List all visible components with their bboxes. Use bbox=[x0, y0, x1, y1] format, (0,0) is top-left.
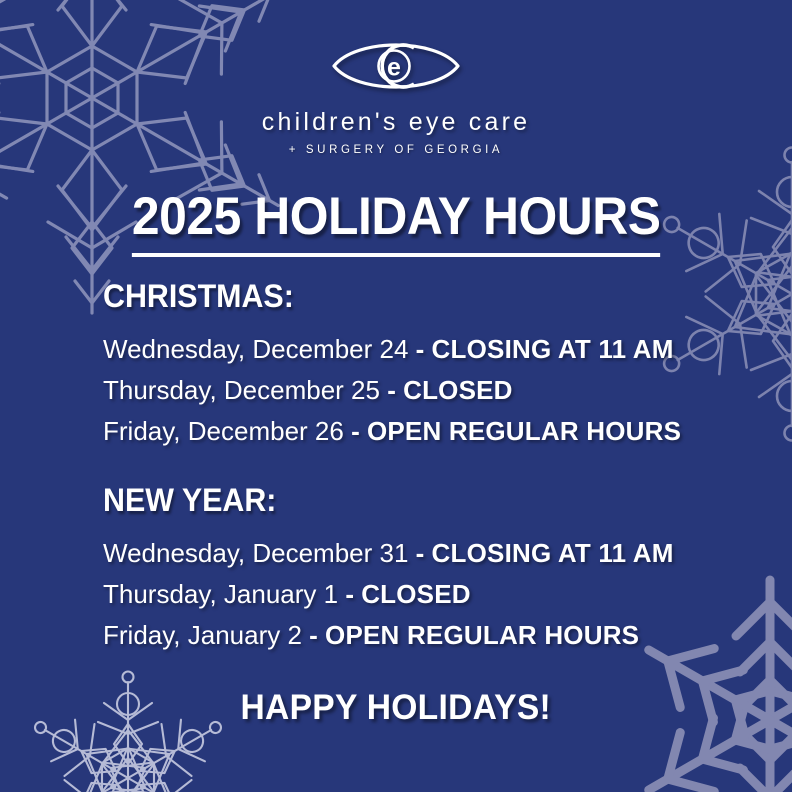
section-new-year: NEW YEAR: Wednesday, December 31 - CLOSI… bbox=[103, 482, 743, 656]
hours-dash: - bbox=[344, 416, 367, 446]
hours-dash: - bbox=[380, 375, 403, 405]
hours-status: CLOSING AT 11 AM bbox=[432, 538, 674, 568]
holiday-hours-poster: e children's eye care + SURGERY OF GEORG… bbox=[0, 0, 792, 792]
hours-line: Wednesday, December 31 - CLOSING AT 11 A… bbox=[103, 533, 743, 574]
hours-dash: - bbox=[408, 538, 431, 568]
hours-status: OPEN REGULAR HOURS bbox=[325, 620, 639, 650]
hours-line: Thursday, January 1 - CLOSED bbox=[103, 574, 743, 615]
logo-tagline: + SURGERY OF GEORGIA bbox=[0, 144, 792, 156]
hours-when: Thursday, December 25 bbox=[103, 375, 380, 405]
hours-line: Friday, December 26 - OPEN REGULAR HOURS bbox=[103, 411, 743, 452]
eye-logo-mark-icon: e bbox=[330, 32, 462, 100]
headline: 2025 HOLIDAY HOURS bbox=[0, 186, 792, 257]
section-christmas: CHRISTMAS: Wednesday, December 24 - CLOS… bbox=[103, 278, 743, 452]
logo-wordmark: children's eye care bbox=[0, 108, 792, 137]
section-heading-christmas: CHRISTMAS: bbox=[103, 278, 711, 315]
hours-dash: - bbox=[408, 334, 431, 364]
hours-dash: - bbox=[338, 579, 361, 609]
hours-status: CLOSING AT 11 AM bbox=[432, 334, 674, 364]
hours-line: Friday, January 2 - OPEN REGULAR HOURS bbox=[103, 615, 743, 656]
section-heading-new-year: NEW YEAR: bbox=[103, 482, 711, 519]
hours-status: OPEN REGULAR HOURS bbox=[367, 416, 681, 446]
closing-message: HAPPY HOLIDAYS! bbox=[0, 688, 792, 728]
hours-when: Friday, December 26 bbox=[103, 416, 344, 446]
hours-when: Thursday, January 1 bbox=[103, 579, 338, 609]
hours-when: Wednesday, December 31 bbox=[103, 538, 408, 568]
headline-text: 2025 HOLIDAY HOURS bbox=[132, 186, 661, 257]
hours-line: Thursday, December 25 - CLOSED bbox=[103, 370, 743, 411]
hours-when: Friday, January 2 bbox=[103, 620, 302, 650]
hours-dash: - bbox=[302, 620, 325, 650]
hours-status: CLOSED bbox=[403, 375, 513, 405]
snowflake-bottom-left-icon bbox=[18, 668, 238, 792]
hours-status: CLOSED bbox=[361, 579, 471, 609]
hours-line: Wednesday, December 24 - CLOSING AT 11 A… bbox=[103, 329, 743, 370]
svg-text:e: e bbox=[387, 54, 401, 82]
hours-when: Wednesday, December 24 bbox=[103, 334, 408, 364]
closing-text: HAPPY HOLIDAYS! bbox=[241, 688, 552, 728]
logo-block: e children's eye care + SURGERY OF GEORG… bbox=[0, 32, 792, 156]
